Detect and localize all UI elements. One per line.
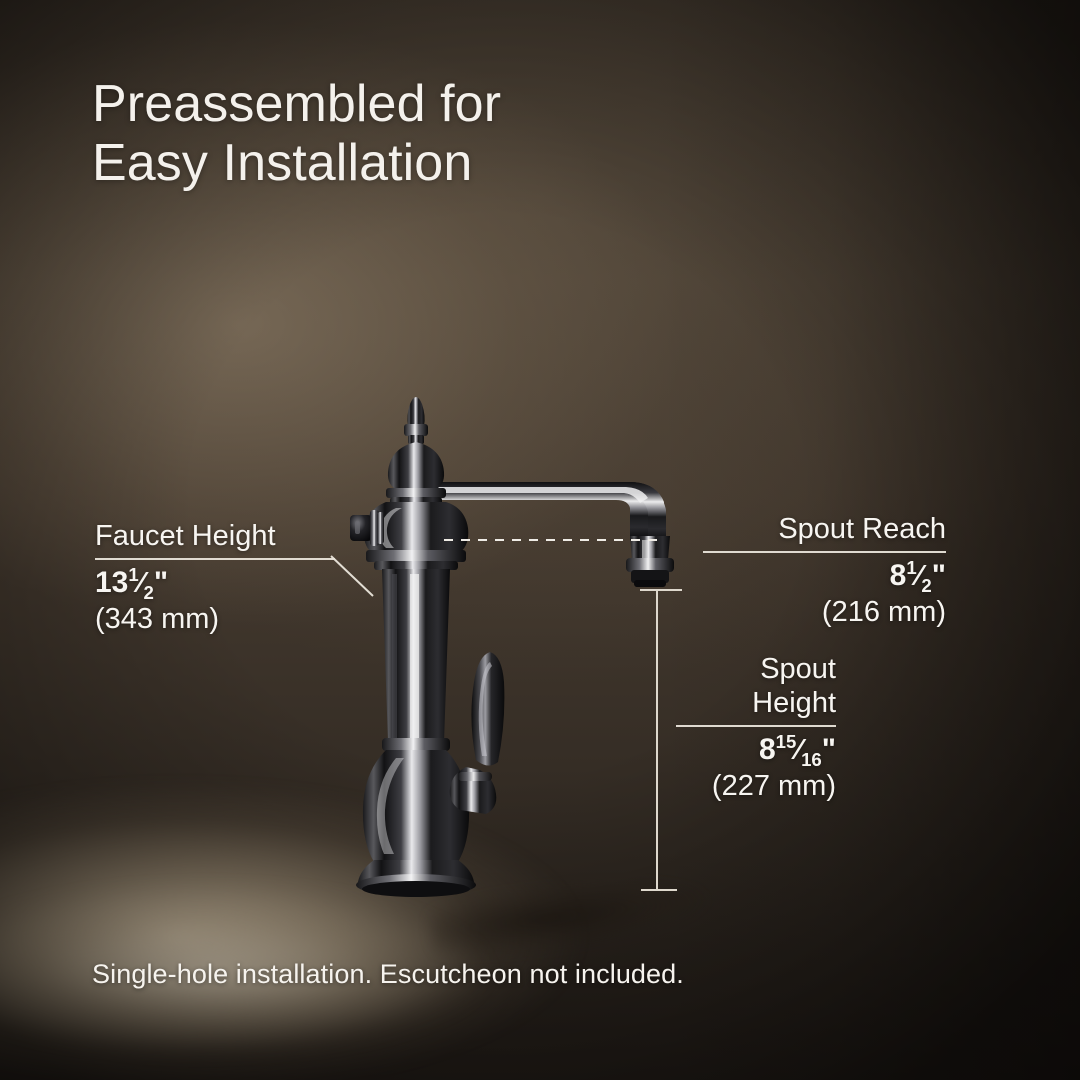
callout-value: 131⁄2" — [95, 564, 335, 602]
faucet-product-image — [330, 390, 710, 910]
callout-spout-reach: Spout Reach 81⁄2" (216 mm) — [703, 512, 946, 630]
spout-height-dimension-line — [656, 590, 658, 890]
lever-handle[interactable] — [450, 652, 505, 814]
callout-title: Faucet Height — [95, 519, 335, 553]
callout-title: Spout Height — [676, 652, 836, 720]
callout-metric: (343 mm) — [95, 602, 335, 637]
callout-faucet-height: Faucet Height 131⁄2" (343 mm) — [95, 519, 335, 637]
callout-rule — [703, 551, 946, 553]
finial — [386, 397, 446, 505]
headline-line-1: Preassembled for — [92, 75, 501, 134]
side-cap — [350, 510, 384, 546]
footer-note: Single-hole installation. Escutcheon not… — [92, 959, 684, 990]
callout-metric: (227 mm) — [676, 769, 836, 804]
spout-outlet — [626, 536, 674, 587]
faucet-base-body — [356, 738, 476, 897]
faucet-column — [382, 569, 450, 742]
callout-value: 81⁄2" — [703, 557, 946, 595]
page-title: Preassembled for Easy Installation — [92, 75, 501, 193]
callout-title: Spout Reach — [703, 512, 946, 546]
callout-spout-height: Spout Height 815⁄16" (227 mm) — [676, 652, 836, 804]
spout-reach-dashed-line — [444, 539, 658, 541]
callout-rule — [676, 725, 836, 727]
headline-line-2: Easy Installation — [92, 134, 501, 193]
callout-rule — [95, 558, 335, 560]
spout-height-tick-bottom — [641, 889, 677, 891]
callout-metric: (216 mm) — [703, 595, 946, 630]
callout-value: 815⁄16" — [676, 731, 836, 769]
spout-height-tick-top — [640, 589, 682, 591]
faucet-height-leader-line — [331, 556, 375, 598]
product-spec-image: Preassembled for Easy Installation Fauce… — [0, 0, 1080, 1080]
